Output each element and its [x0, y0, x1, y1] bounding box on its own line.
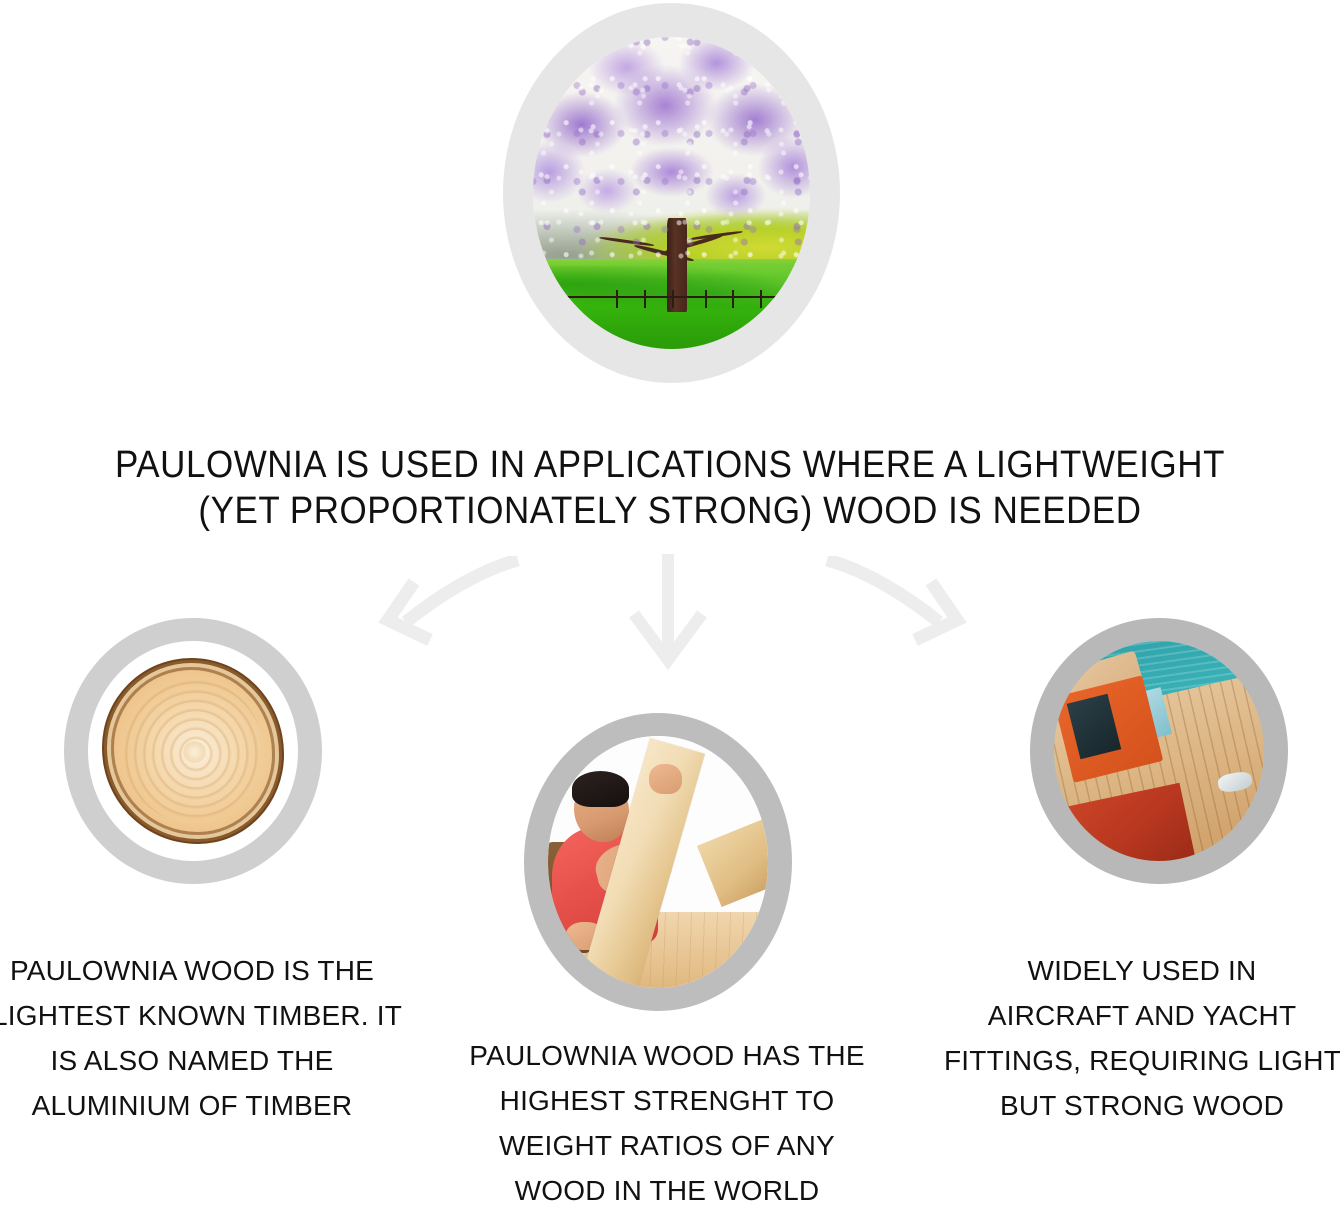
caption-lightest-timber: PAULOWNIA WOOD IS THE LIGHTEST KNOWN TIM…: [0, 948, 392, 1128]
arrow-curved-down-left-icon: [330, 556, 520, 666]
caption-line: LIGHTEST KNOWN TIMBER. IT: [0, 993, 392, 1038]
fence-post: [616, 290, 618, 309]
man-hair: [572, 771, 629, 806]
blossom-texture: [533, 37, 810, 262]
caption-aircraft-and-yacht: WIDELY USED IN AIRCRAFT AND YACHT FITTIN…: [944, 948, 1340, 1128]
headline-line-1: PAULOWNIA IS USED IN APPLICATIONS WHERE …: [54, 442, 1287, 488]
workshop-scene: [548, 736, 768, 988]
caption-strength-to-weight: PAULOWNIA WOOD HAS THE HIGHEST STRENGHT …: [432, 1033, 902, 1213]
paulownia-tree-image: [533, 37, 810, 349]
headline-line-2: (YET PROPORTIONATELY STRONG) WOOD IS NEE…: [54, 488, 1287, 534]
wooden-yacht-deck-image: [1054, 641, 1264, 861]
fence-post: [644, 290, 646, 309]
park-fence: [533, 290, 810, 309]
arrow-straight-down-icon: [608, 552, 728, 674]
fence-post: [732, 290, 734, 309]
fence-post: [760, 290, 762, 309]
secondary-beam: [697, 813, 768, 907]
log-growth-rings: [111, 667, 275, 834]
man-hand: [649, 764, 682, 794]
caption-line: ALUMINIUM OF TIMBER: [0, 1083, 392, 1128]
caption-line: HIGHEST STRENGHT TO: [432, 1078, 902, 1123]
caption-line: AIRCRAFT AND YACHT: [944, 993, 1340, 1038]
caption-line: WOOD IN THE WORLD: [432, 1168, 902, 1213]
fence-post: [705, 290, 707, 309]
caption-line: FITTINGS, REQUIRING LIGHT: [944, 1038, 1340, 1083]
wood-log-cross-section-image: [88, 641, 298, 861]
caption-line: BUT STRONG WOOD: [944, 1083, 1340, 1128]
caption-line: PAULOWNIA WOOD IS THE: [0, 948, 392, 993]
caption-line: IS ALSO NAMED THE: [0, 1038, 392, 1083]
arrow-curved-down-right-icon: [825, 556, 1015, 666]
man-lifting-wooden-beam-image: [548, 736, 768, 988]
caption-line: WEIGHT RATIOS OF ANY: [432, 1123, 902, 1168]
headline: PAULOWNIA IS USED IN APPLICATIONS WHERE …: [54, 442, 1287, 534]
caption-line: WIDELY USED IN: [944, 948, 1340, 993]
caption-line: PAULOWNIA WOOD HAS THE: [432, 1033, 902, 1078]
fence-post: [672, 290, 674, 309]
